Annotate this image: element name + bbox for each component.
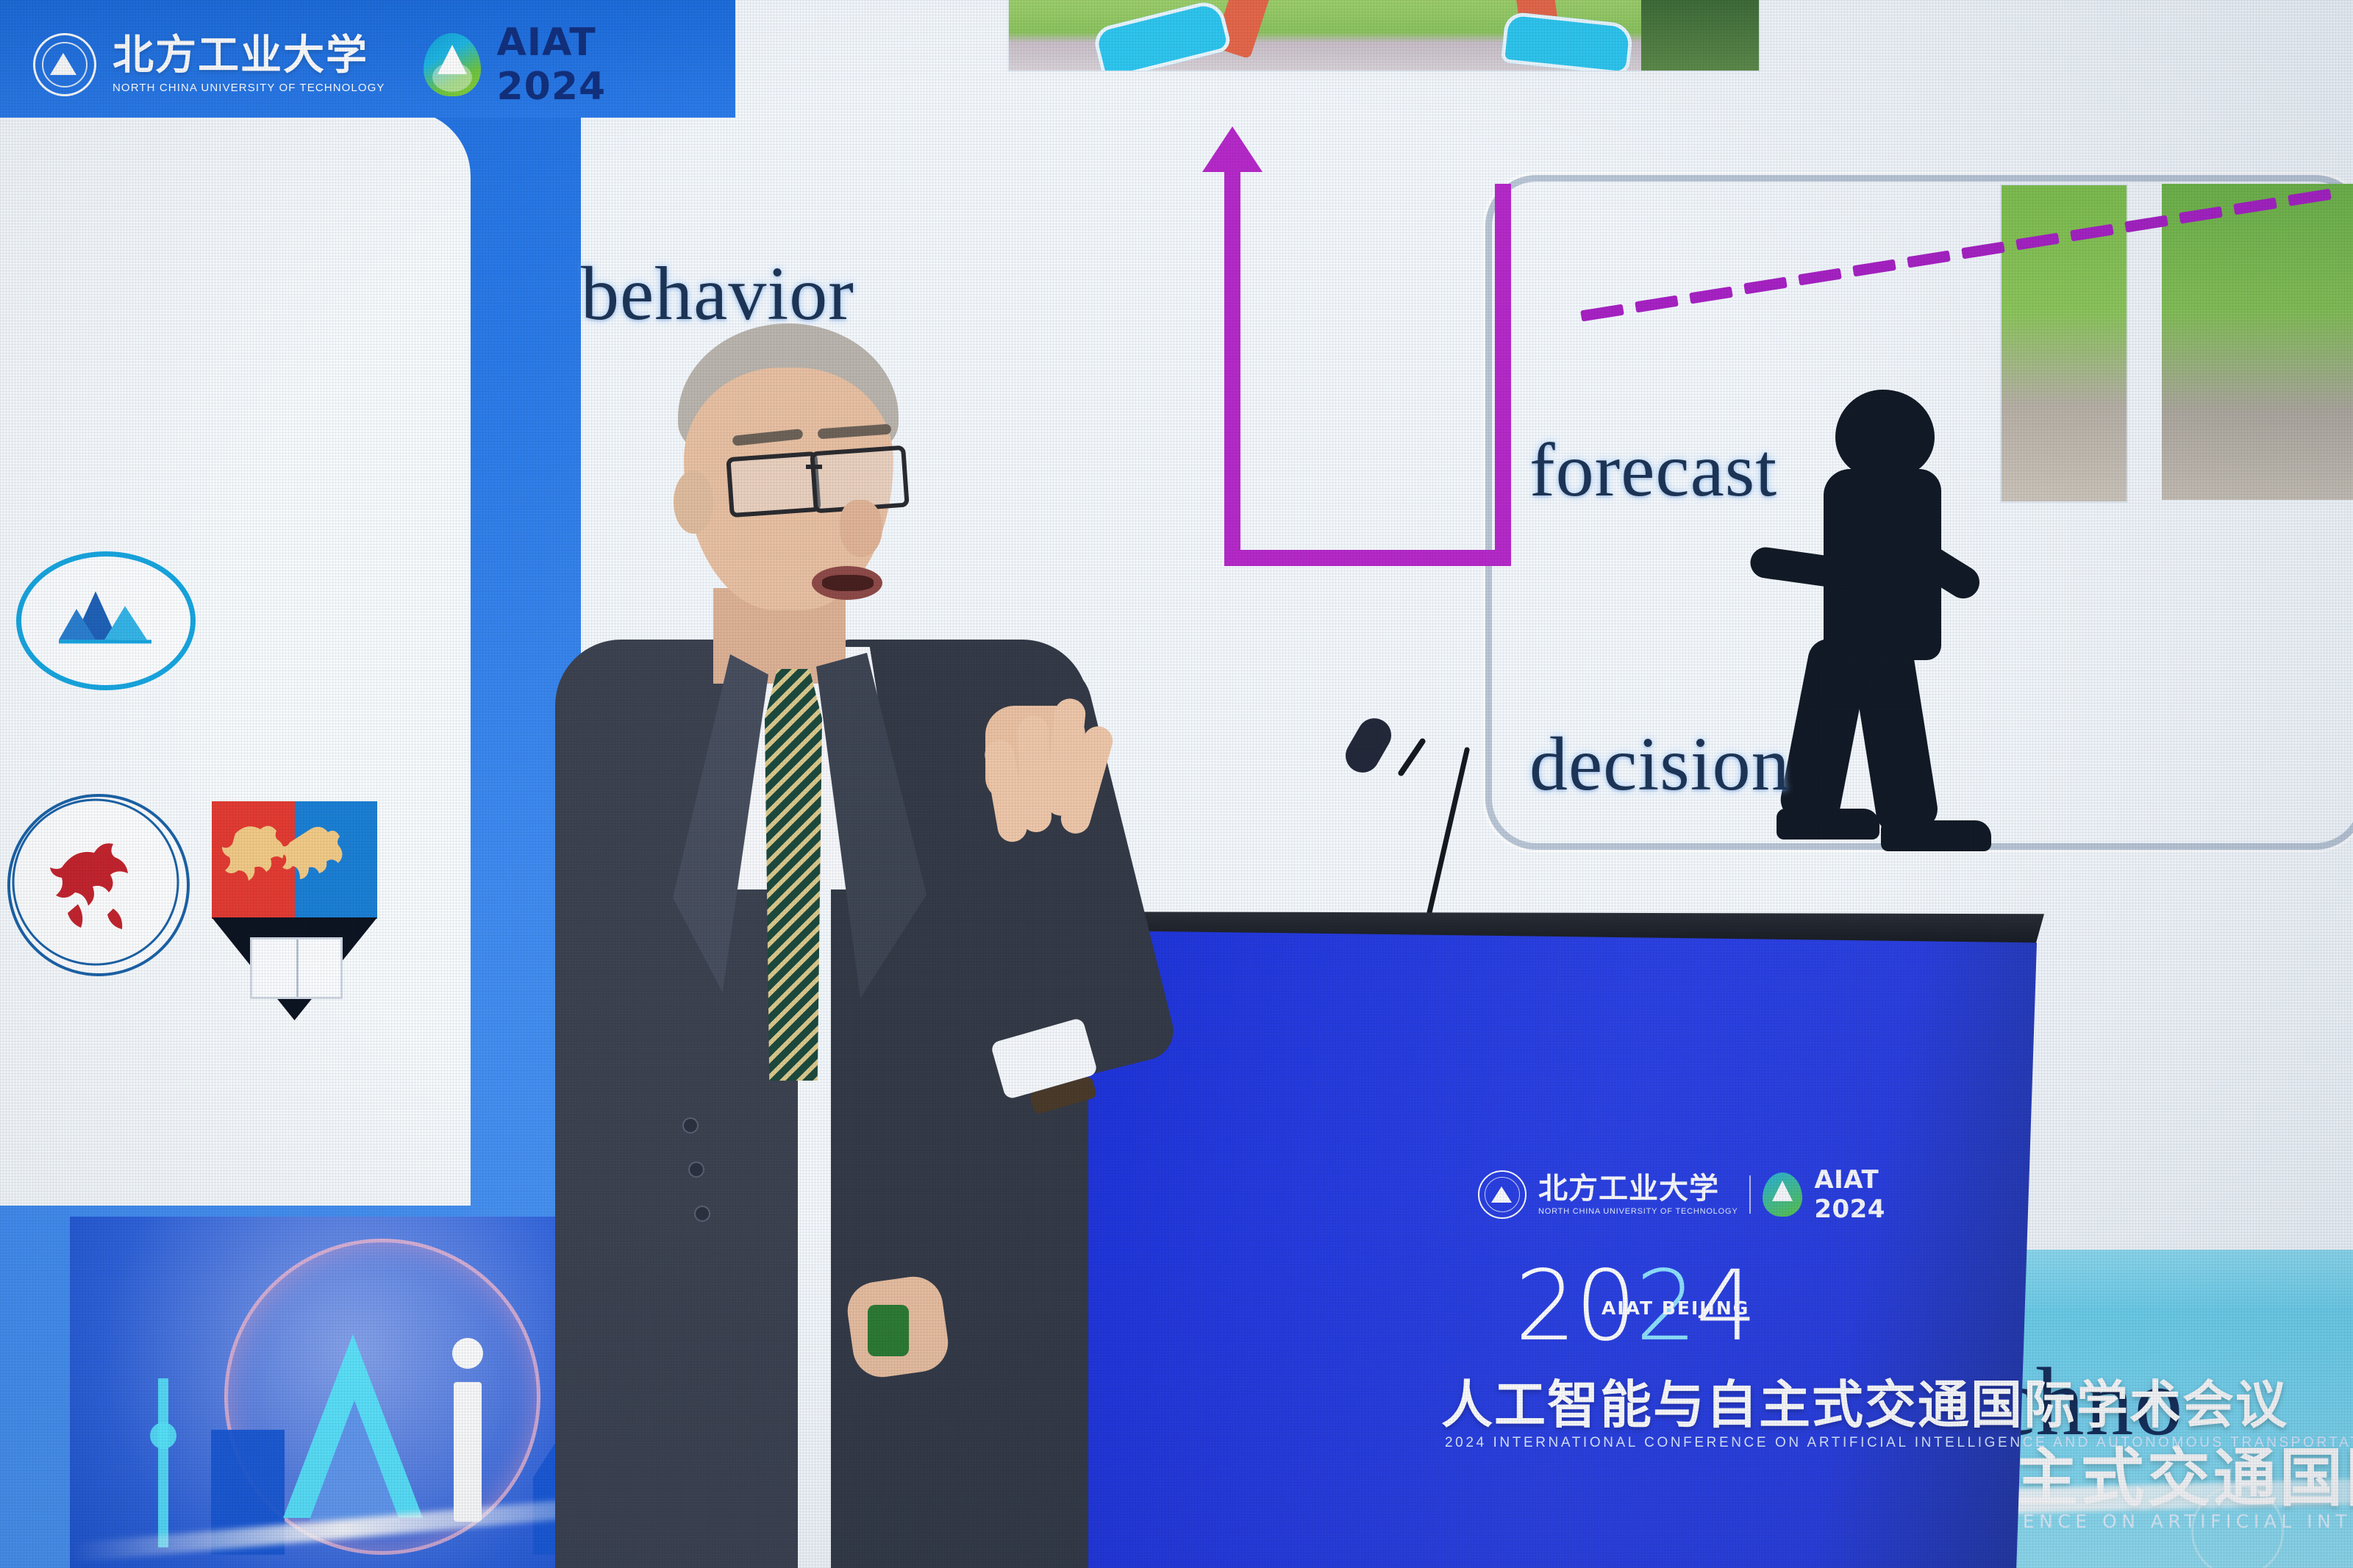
purple-vertical-connector: [1495, 184, 1511, 566]
crest-open-book-icon: [250, 937, 343, 999]
mouth-opening: [822, 575, 874, 591]
hand-finger-middle: [1017, 715, 1051, 832]
university-name-cn: 北方工业大学: [113, 35, 385, 76]
heraldic-crest-icon: [212, 801, 377, 1022]
jacket-button-1: [682, 1117, 699, 1134]
speaker-person: [515, 323, 1250, 1568]
slide-word-forecast: forecast: [1529, 426, 1777, 514]
purple-arrow-elbow: [1224, 550, 1511, 566]
university-name-en: NORTH CHINA UNIVERSITY OF TECHNOLOGY: [113, 82, 385, 94]
podium-aiat-mountain-icon: [1763, 1173, 1802, 1217]
chinese-institution-seal-icon: [16, 551, 196, 690]
conference-photo-scene: 北方工业大学 NORTH CHINA UNIVERSITY OF TECHNOL…: [0, 0, 2353, 1568]
foliage-patch: [1641, 0, 1759, 71]
necktie: [765, 669, 822, 1081]
eyeglasses-bridge: [806, 465, 822, 469]
presentation-clicker: [868, 1305, 909, 1356]
purple-arrow-head-icon: [1202, 126, 1263, 172]
pedestrian-head: [1835, 390, 1935, 478]
purple-dashed-trend-line: [1581, 132, 2353, 353]
podium-university-name-cn: 北方工业大学: [1538, 1174, 1738, 1203]
university-of-salford-seal-icon: [7, 794, 190, 976]
gesturing-hand: [985, 706, 1125, 889]
podium-title-cn: 人工智能与自主式交通国际学术会议: [1441, 1364, 2288, 1438]
aiat-mountain-icon: [424, 33, 481, 96]
jacket-button-2: [688, 1161, 704, 1178]
podium-logo-divider: [1749, 1175, 1751, 1214]
university-name-block: 北方工业大学 NORTH CHINA UNIVERSITY OF TECHNOL…: [113, 35, 385, 94]
eyeglasses-lens-left: [726, 451, 821, 518]
slide-word-decision: decision: [1529, 720, 1790, 808]
tv-tower-shape: [158, 1378, 168, 1547]
podium-ncut-seal-icon: [1478, 1170, 1527, 1219]
podium-university-name-en: NORTH CHINA UNIVERSITY OF TECHNOLOGY: [1538, 1207, 1738, 1216]
runner-legs-photo: [1007, 0, 1760, 72]
running-shoe-left: [1091, 0, 1232, 72]
ai-letter-i-dot: [452, 1338, 483, 1369]
header-logo-lockup: 北方工业大学 NORTH CHINA UNIVERSITY OF TECHNOL…: [33, 21, 445, 109]
seal-mountain-emblem: [54, 588, 157, 659]
podium-aiat-mark: AIAT 2024: [1814, 1165, 1949, 1224]
podium-university-block: 北方工业大学 NORTH CHINA UNIVERSITY OF TECHNOL…: [1538, 1174, 1738, 1216]
pedestrian-leg-front: [1777, 635, 1871, 827]
ai-letter-a-inner: [309, 1400, 400, 1522]
podium-logo-lockup: 北方工业大学 NORTH CHINA UNIVERSITY OF TECHNOL…: [1478, 1154, 1949, 1235]
jacket-button-3: [694, 1206, 710, 1222]
podium-aiat-beijing: AIAT BEIJING: [1602, 1297, 1749, 1319]
ear: [674, 470, 713, 534]
ncut-seal-icon: [33, 33, 96, 96]
pedestrian-foot-front: [1777, 809, 1879, 840]
nose: [840, 500, 882, 557]
pedestrian-foot-back: [1881, 820, 1991, 851]
podium-title-en: 2024 INTERNATIONAL CONFERENCE ON ARTIFIC…: [1445, 1435, 2353, 1451]
ai-letter-i-stem: [454, 1382, 482, 1522]
running-shoe-right: [1501, 11, 1634, 72]
